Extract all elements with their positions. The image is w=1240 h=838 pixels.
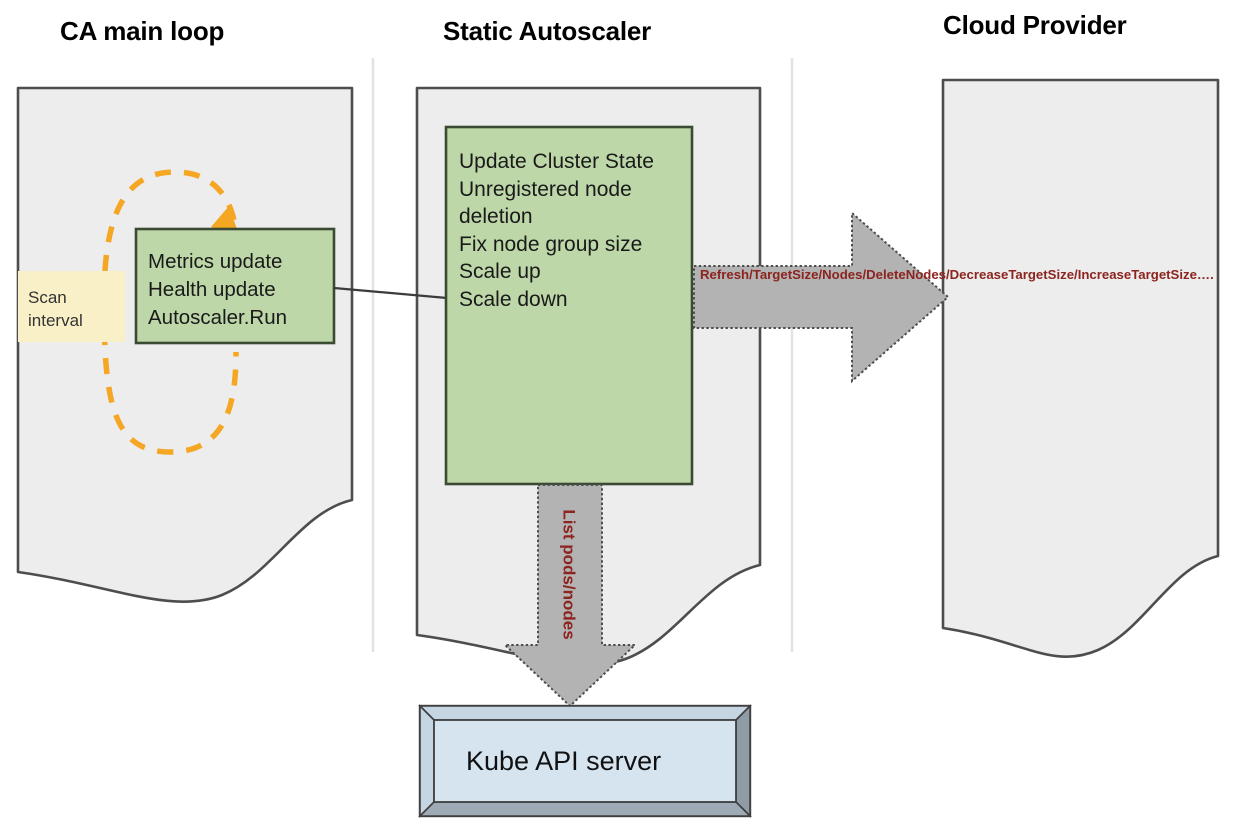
kube-api-server-bevel-bottom [420, 802, 750, 816]
scan-interval-label: Scan interval [28, 286, 83, 332]
kube-api-server-bevel-left [420, 706, 434, 816]
column-title-ca-main-loop: CA main loop [60, 16, 224, 47]
diagram-canvas: CA main loop Static Autoscaler Cloud Pro… [0, 0, 1240, 838]
lane-shape-cloud-provider [943, 80, 1218, 657]
kube-api-server-bevel-top [420, 706, 750, 720]
lane-shape-ca-main-loop [18, 88, 352, 602]
api-server-arrow-label: List pods/nodes [560, 495, 579, 655]
cloud-provider-arrow-label: Refresh/TargetSize/Nodes/DeleteNodes/Dec… [700, 266, 896, 284]
metrics-update-label: Metrics update Health update Autoscaler.… [148, 248, 287, 332]
static-autoscaler-steps-label: Update Cluster State Unregistered node d… [459, 148, 654, 313]
column-title-static-autoscaler: Static Autoscaler [443, 16, 651, 47]
kube-api-server-label: Kube API server [466, 745, 661, 777]
column-title-cloud-provider: Cloud Provider [943, 10, 1127, 41]
diagram-shapes [0, 0, 1240, 838]
kube-api-server-bevel-right [736, 706, 750, 816]
